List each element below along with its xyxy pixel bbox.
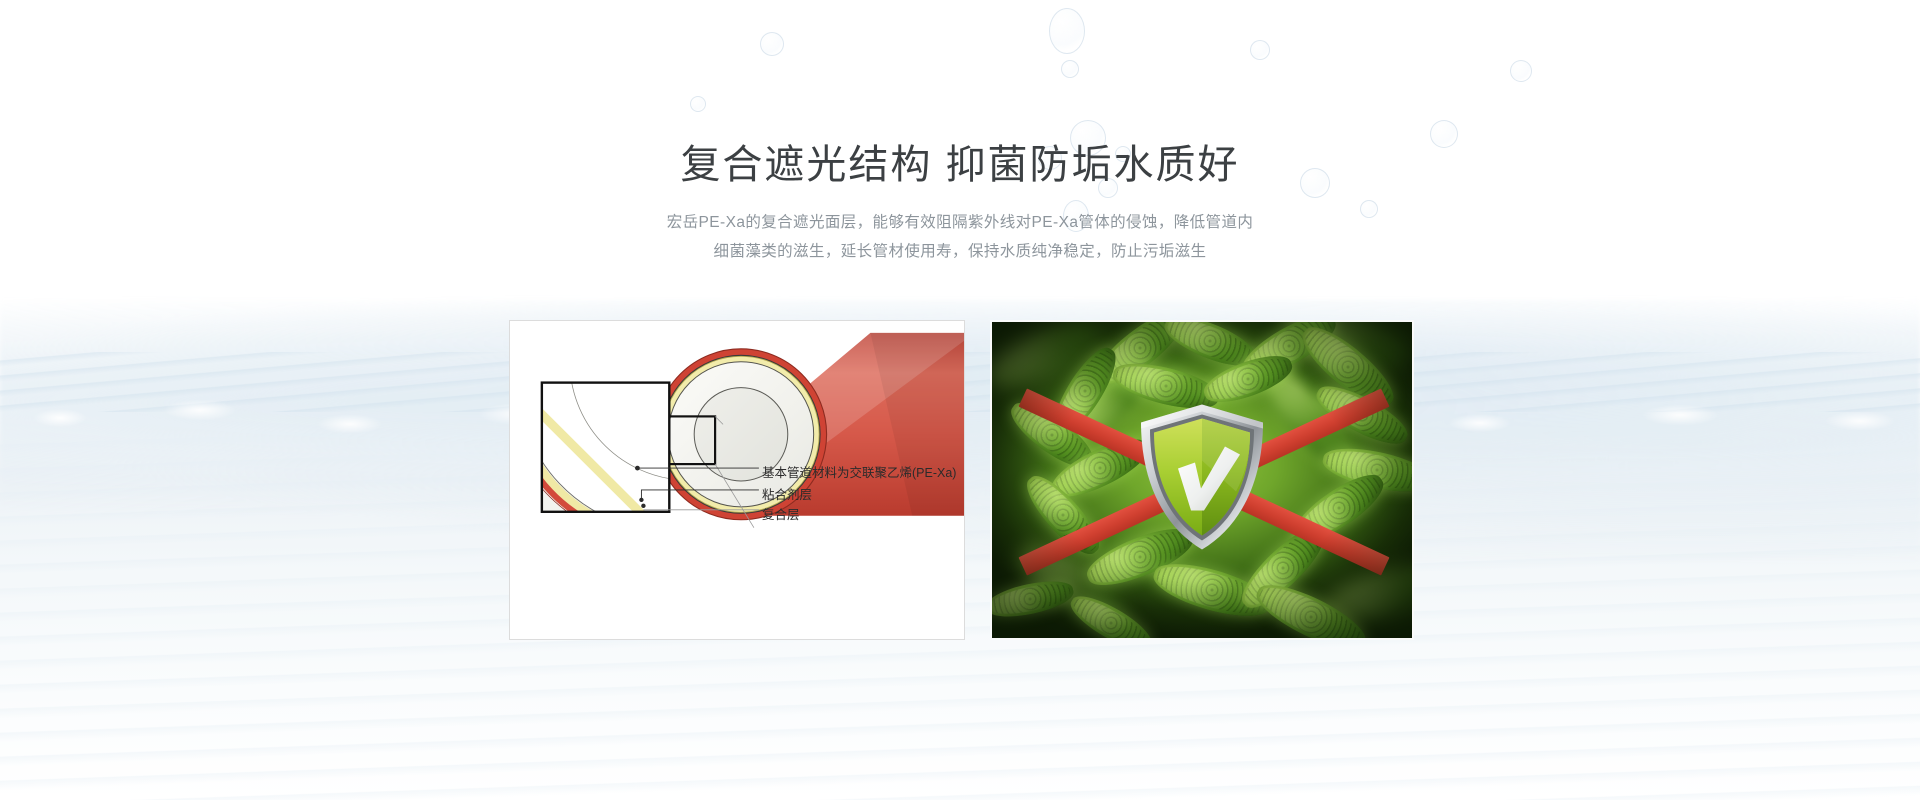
image-vignette xyxy=(992,322,1412,638)
bacteria-scene xyxy=(992,322,1412,638)
page-title: 复合遮光结构 抑菌防垢水质好 xyxy=(0,138,1920,192)
callout-label-adhesive: 粘合剂层 xyxy=(762,484,812,503)
callout-label-composite: 复合层 xyxy=(762,504,800,523)
diagram-callout-labels: 基本管道材料为交联聚乙烯(PE-Xa) 粘合剂层 复合层 xyxy=(510,321,966,641)
subtitle-line-1: 宏岳PE-Xa的复合遮光面层，能够有效阻隔紫外线对PE-Xa管体的侵蚀，降低管道… xyxy=(580,208,1340,237)
antibacterial-image-panel xyxy=(990,320,1414,640)
promo-banner: 复合遮光结构 抑菌防垢水质好 宏岳PE-Xa的复合遮光面层，能够有效阻隔紫外线对… xyxy=(0,0,1920,800)
page-subtitle: 宏岳PE-Xa的复合遮光面层，能够有效阻隔紫外线对PE-Xa管体的侵蚀，降低管道… xyxy=(580,208,1340,267)
callout-label-core: 基本管道材料为交联聚乙烯(PE-Xa) xyxy=(762,462,956,481)
heading-block: 复合遮光结构 抑菌防垢水质好 宏岳PE-Xa的复合遮光面层，能够有效阻隔紫外线对… xyxy=(0,138,1920,267)
subtitle-line-2: 细菌藻类的滋生，延长管材使用寿，保持水质纯净稳定，防止污垢滋生 xyxy=(580,237,1340,266)
pipe-diagram-panel: 基本管道材料为交联聚乙烯(PE-Xa) 粘合剂层 复合层 xyxy=(509,320,965,640)
content-panels: 基本管道材料为交联聚乙烯(PE-Xa) 粘合剂层 复合层 xyxy=(0,320,1920,640)
